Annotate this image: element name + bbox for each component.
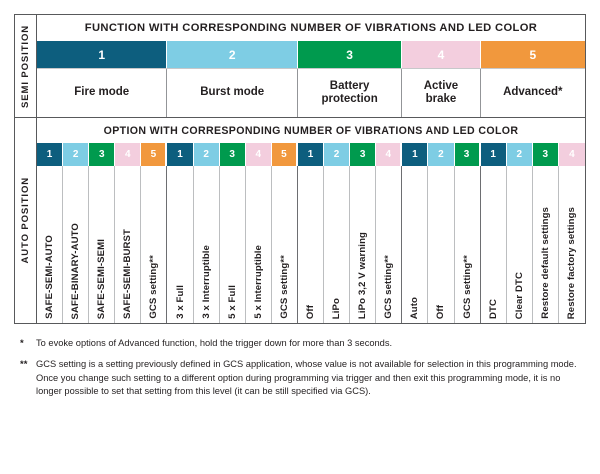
semi-function-name: Fire mode <box>37 69 167 117</box>
auto-option-label: Clear DTC <box>507 166 533 323</box>
semi-number-chip[interactable]: 5 <box>481 41 585 68</box>
footnote-marker: * <box>20 337 36 351</box>
semi-function-name: Activebrake <box>402 69 480 117</box>
auto-number-row: 123451234512341231234 <box>37 143 585 166</box>
footnote: **GCS setting is a setting previously de… <box>20 358 582 399</box>
programming-table-page: SEMI POSITION FUNCTION WITH CORRESPONDIN… <box>0 0 600 474</box>
auto-option-label-text: Restore factory settings <box>566 207 577 319</box>
auto-option-label: SAFE-SEMI-SEMI <box>89 166 115 323</box>
auto-option-label-text: 3 x Full <box>175 285 186 319</box>
auto-option-label-text: Off <box>435 305 446 319</box>
auto-number-chip[interactable]: 2 <box>194 143 220 166</box>
auto-option-label-text: GCS setting** <box>148 255 159 319</box>
auto-number-chip[interactable]: 3 <box>533 143 559 166</box>
auto-number-chip[interactable]: 2 <box>324 143 350 166</box>
auto-option-label: GCS setting** <box>455 166 481 323</box>
auto-option-label-text: SAFE-BINARY-AUTO <box>70 223 81 319</box>
semi-number-chip[interactable]: 1 <box>37 41 167 68</box>
auto-number-chip[interactable]: 2 <box>507 143 533 166</box>
auto-number-chip[interactable]: 1 <box>481 143 507 166</box>
auto-position-side-label: AUTO POSITION <box>15 118 37 323</box>
auto-number-chip[interactable]: 3 <box>455 143 481 166</box>
auto-option-label: GCS setting** <box>141 166 167 323</box>
auto-option-label: SAFE-SEMI-BURST <box>115 166 141 323</box>
auto-number-chip[interactable]: 2 <box>428 143 454 166</box>
auto-option-label-text: GCS setting** <box>279 255 290 319</box>
auto-option-label-text: 5 x Full <box>227 285 238 319</box>
auto-option-label: Restore factory settings <box>559 166 585 323</box>
auto-position-body: OPTION WITH CORRESPONDING NUMBER OF VIBR… <box>37 118 585 323</box>
auto-option-label: LiPo 3,2 V warning <box>350 166 376 323</box>
auto-number-chip[interactable]: 3 <box>350 143 376 166</box>
auto-option-label: Auto <box>402 166 428 323</box>
auto-option-label-text: Clear DTC <box>514 272 525 319</box>
auto-option-label-text: Restore default settings <box>540 207 551 319</box>
auto-option-label: Off <box>428 166 454 323</box>
footnote-text: To evoke options of Advanced function, h… <box>36 337 392 351</box>
auto-option-label-text: GCS setting** <box>462 255 473 319</box>
semi-number-chip[interactable]: 2 <box>167 41 297 68</box>
auto-option-label: 5 x Full <box>220 166 246 323</box>
auto-number-chip[interactable]: 1 <box>37 143 63 166</box>
auto-option-label-text: SAFE-SEMI-SEMI <box>96 239 107 319</box>
auto-number-chip[interactable]: 3 <box>220 143 246 166</box>
auto-option-label-text: DTC <box>488 299 499 319</box>
semi-function-name: Burst mode <box>167 69 297 117</box>
auto-option-label: SAFE-BINARY-AUTO <box>63 166 89 323</box>
semi-number-row: 12345 <box>37 41 585 68</box>
semi-position-block: SEMI POSITION FUNCTION WITH CORRESPONDIN… <box>15 15 585 117</box>
footnote-marker: ** <box>20 358 36 372</box>
auto-option-label: GCS setting** <box>272 166 298 323</box>
auto-number-chip[interactable]: 2 <box>63 143 89 166</box>
auto-number-chip[interactable]: 3 <box>89 143 115 166</box>
auto-option-label-text: LiPo 3,2 V warning <box>357 232 368 319</box>
semi-function-name: Batteryprotection <box>298 69 402 117</box>
auto-option-label-text: LiPo <box>331 298 342 319</box>
semi-function-name: Advanced* <box>481 69 585 117</box>
auto-option-label-row: SAFE-SEMI-AUTOSAFE-BINARY-AUTOSAFE-SEMI-… <box>37 166 585 323</box>
auto-number-chip[interactable]: 4 <box>246 143 272 166</box>
auto-number-chip[interactable]: 1 <box>298 143 324 166</box>
semi-position-side-label: SEMI POSITION <box>15 15 37 117</box>
auto-number-chip[interactable]: 5 <box>272 143 298 166</box>
auto-banner: OPTION WITH CORRESPONDING NUMBER OF VIBR… <box>37 118 585 143</box>
auto-number-chip[interactable]: 1 <box>402 143 428 166</box>
footnotes: *To evoke options of Advanced function, … <box>14 324 586 399</box>
auto-option-label-text: SAFE-SEMI-BURST <box>122 229 133 319</box>
auto-option-label: Restore default settings <box>533 166 559 323</box>
auto-number-chip[interactable]: 1 <box>167 143 193 166</box>
semi-position-side-label-text: SEMI POSITION <box>20 25 31 108</box>
auto-option-label: 3 x Interruptible <box>194 166 220 323</box>
auto-number-chip[interactable]: 5 <box>141 143 167 166</box>
auto-option-label: GCS setting** <box>376 166 402 323</box>
semi-number-chip[interactable]: 4 <box>402 41 480 68</box>
auto-number-chip[interactable]: 4 <box>559 143 585 166</box>
auto-position-side-label-text: AUTO POSITION <box>20 177 31 263</box>
auto-number-chip[interactable]: 4 <box>115 143 141 166</box>
semi-number-chip[interactable]: 3 <box>298 41 402 68</box>
auto-number-chip[interactable]: 4 <box>376 143 402 166</box>
semi-banner: FUNCTION WITH CORRESPONDING NUMBER OF VI… <box>37 15 585 41</box>
auto-option-label-text: 5 x Interruptible <box>253 245 264 319</box>
auto-option-label: DTC <box>481 166 507 323</box>
auto-option-label-text: SAFE-SEMI-AUTO <box>44 235 55 319</box>
auto-option-label: SAFE-SEMI-AUTO <box>37 166 63 323</box>
auto-option-label: 5 x Interruptible <box>246 166 272 323</box>
semi-position-body: FUNCTION WITH CORRESPONDING NUMBER OF VI… <box>37 15 585 117</box>
auto-option-label: LiPo <box>324 166 350 323</box>
auto-option-label-text: Off <box>305 305 316 319</box>
auto-option-label-text: GCS setting** <box>383 255 394 319</box>
auto-position-block: AUTO POSITION OPTION WITH CORRESPONDING … <box>15 117 585 323</box>
programming-table: SEMI POSITION FUNCTION WITH CORRESPONDIN… <box>14 14 586 324</box>
semi-function-name-row: Fire modeBurst modeBatteryprotectionActi… <box>37 68 585 117</box>
auto-option-label-text: 3 x Interruptible <box>201 245 212 319</box>
footnote-text: GCS setting is a setting previously defi… <box>36 358 582 399</box>
auto-option-label: Off <box>298 166 324 323</box>
auto-option-label: 3 x Full <box>167 166 193 323</box>
footnote: *To evoke options of Advanced function, … <box>20 337 582 351</box>
auto-option-label-text: Auto <box>409 297 420 319</box>
